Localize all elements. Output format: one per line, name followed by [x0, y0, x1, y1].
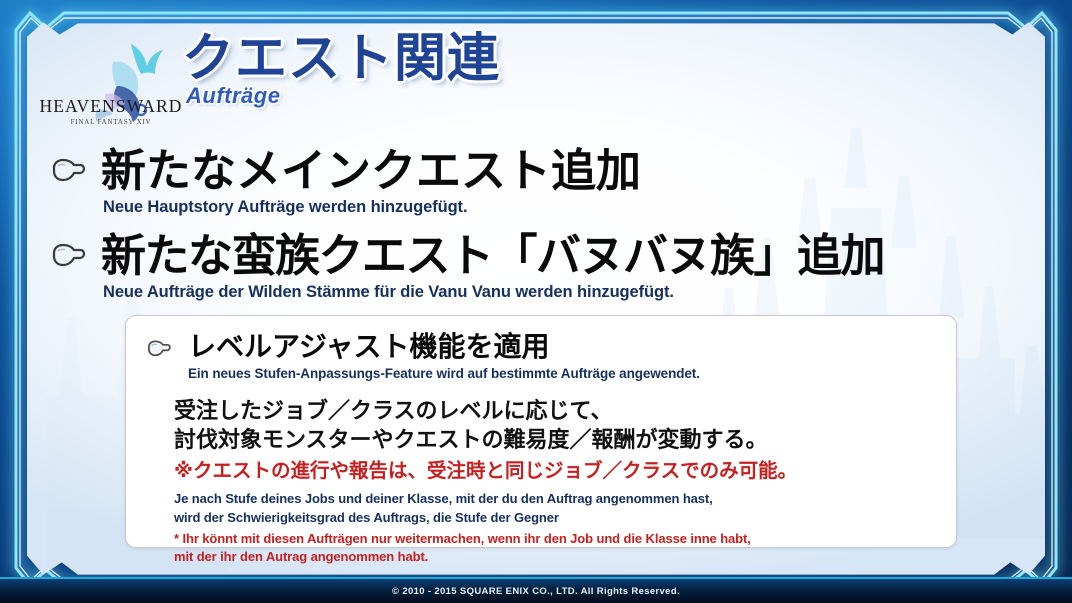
copyright-text: © 2010 - 2015 SQUARE ENIX CO., LTD. All … [392, 586, 680, 597]
panel-body-de-red-line1: * Ihr könnt mit diesen Aufträgen nur wei… [174, 530, 956, 549]
panel-heading-text: レベルアジャスト機能を適用 Ein neues Stufen-Anpassung… [188, 333, 700, 381]
pointing-glove-icon [47, 156, 87, 186]
heavensward-logo: HEAVENSWARD FINAL FANTASY XIV [35, 32, 187, 132]
pointing-glove-icon [47, 241, 87, 271]
panel-body-jp-note: ※クエストの進行や報告は、受注時と同じジョブ／クラスでのみ可能。 [174, 458, 956, 483]
headline-row-1: 新たなメインクエスト追加 Neue Hauptstory Aufträge we… [47, 148, 641, 217]
panel-body-de-line2: wird der Schwierigkeitsgrad des Auftrags… [174, 509, 956, 528]
page-title: クエスト関連 [182, 32, 500, 87]
sub-brand-wordmark: FINAL FANTASY XIV [71, 118, 152, 126]
headline-jp-1: 新たなメインクエスト追加 [101, 148, 641, 193]
panel-body-jp-line1: 受注したジョブ／クラスのレベルに応じて、 [174, 397, 956, 426]
headline-de-2: Neue Aufträge der Wilden Stämme für die … [103, 283, 884, 302]
panel-body-de-red-line2: mit der ihr den Autrag angenommen habt. [174, 548, 956, 567]
headline-text-1: 新たなメインクエスト追加 Neue Hauptstory Aufträge we… [101, 148, 641, 217]
page-title-block: クエスト関連 Aufträge [182, 32, 500, 109]
panel-body-jp-line2: 討伐対象モンスターやクエストの難易度／報酬が変動する。 [174, 426, 956, 455]
slide-root: HEAVENSWARD FINAL FANTASY XIV クエスト関連 Auf… [0, 0, 1072, 603]
headline-text-2: 新たな蛮族クエスト「バヌバヌ族」追加 Neue Aufträge der Wil… [101, 233, 884, 302]
footer-bar: © 2010 - 2015 SQUARE ENIX CO., LTD. All … [0, 577, 1072, 603]
panel-body-de-line1: Je nach Stufe deines Jobs und deiner Kla… [174, 490, 956, 509]
headline-jp-2: 新たな蛮族クエスト「バヌバヌ族」追加 [101, 233, 884, 278]
level-adjust-panel: レベルアジャスト機能を適用 Ein neues Stufen-Anpassung… [125, 315, 957, 548]
headline-row-2: 新たな蛮族クエスト「バヌバヌ族」追加 Neue Aufträge der Wil… [47, 233, 884, 302]
panel-heading-row: レベルアジャスト機能を適用 Ein neues Stufen-Anpassung… [144, 333, 956, 381]
panel-heading-jp: レベルアジャスト機能を適用 [188, 333, 700, 361]
headline-de-1: Neue Hauptstory Aufträge werden hinzugef… [103, 198, 641, 217]
pointing-glove-icon [144, 338, 172, 360]
panel-body: 受注したジョブ／クラスのレベルに応じて、 討伐対象モンスターやクエストの難易度／… [174, 397, 956, 567]
brand-wordmark: HEAVENSWARD [39, 96, 182, 116]
slide-canvas: HEAVENSWARD FINAL FANTASY XIV クエスト関連 Auf… [27, 20, 1045, 578]
panel-heading-de: Ein neues Stufen-Anpassungs-Feature wird… [188, 366, 700, 381]
